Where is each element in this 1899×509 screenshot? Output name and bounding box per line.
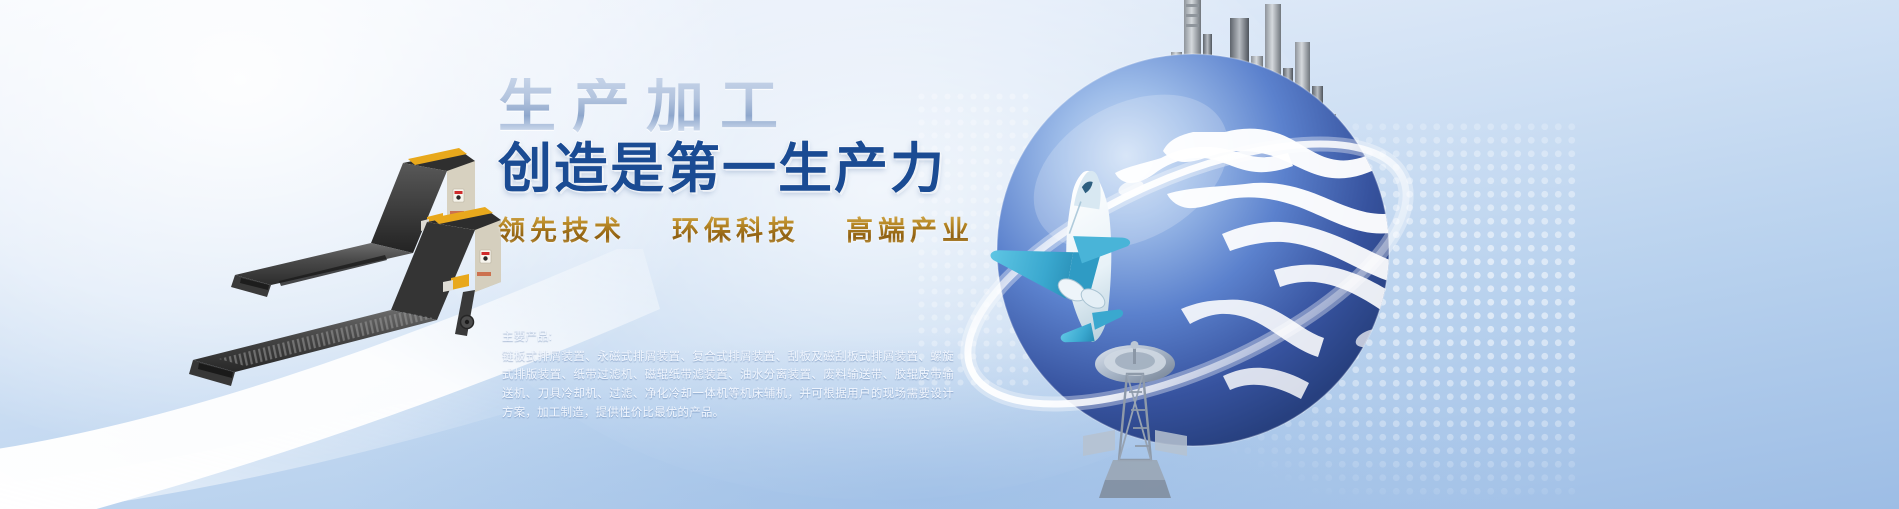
product-body: 链板式排屑装置、永磁式排屑装置、复合式排屑装置、刮板及磁刮板式排屑装置、螺旋式排…	[502, 348, 954, 423]
globe-continents	[1115, 129, 1443, 399]
product-label: 主要产品:	[502, 328, 954, 347]
main-title: 创造是第一生产力	[498, 142, 1018, 197]
satellite-dish	[1065, 330, 1205, 505]
chip-conveyor-machine-upper	[175, 135, 485, 315]
globe-sphere	[997, 54, 1389, 446]
ghost-title: 生产加工	[498, 78, 1018, 136]
product-description: 主要产品: 链板式排屑装置、永磁式排屑装置、复合式排屑装置、刮板及磁刮板式排屑装…	[502, 328, 954, 422]
globe-graphic-group	[925, 0, 1445, 509]
city-skyline	[1131, 0, 1336, 176]
white-swoosh-accent	[0, 369, 520, 509]
halftone-dot-pattern	[1160, 120, 1580, 500]
keyword-list: 领先技术 环保科技 高端产业	[498, 209, 1018, 248]
headline-block: 生产加工 创造是第一生产力 领先技术 环保科技 高端产业	[498, 78, 1018, 248]
keyword-eco-technology: 环保科技	[672, 209, 800, 248]
keyword-high-end-industry: 高端产业	[846, 209, 974, 248]
keyword-leading-technology: 领先技术	[498, 209, 626, 248]
promo-banner: 生产加工 创造是第一生产力 领先技术 环保科技 高端产业 主要产品: 链板式排屑…	[0, 0, 1899, 509]
chip-conveyor-machine-lower	[175, 200, 515, 390]
